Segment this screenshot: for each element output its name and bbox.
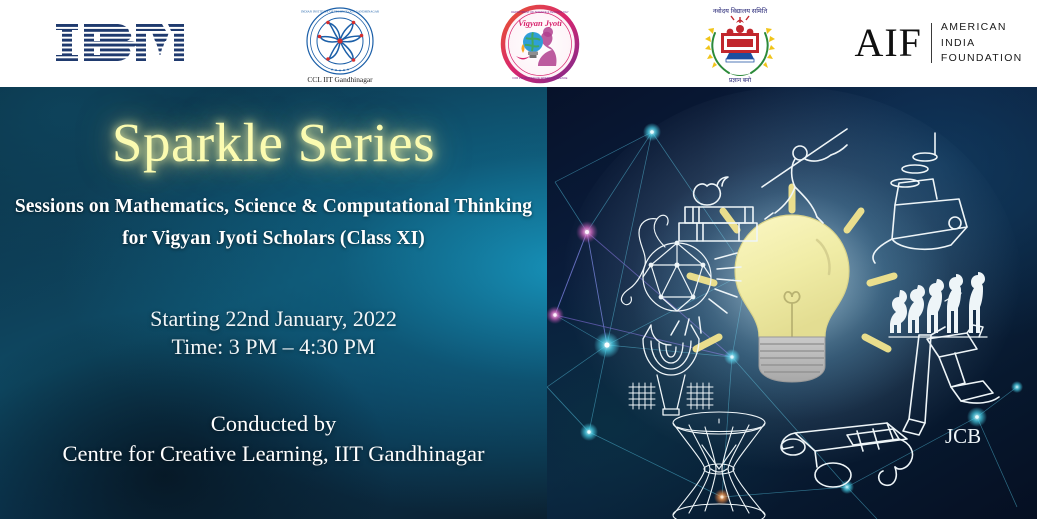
aif-wordmark: AIF bbox=[854, 23, 931, 63]
ccl-seal-icon: INDIAN INSTITUTE OF TECHNOLOGY GANDHINAG… bbox=[301, 5, 379, 83]
aif-logo: AIF AMERICAN INDIA FOUNDATION bbox=[840, 0, 1037, 87]
poster-illustration-panel: JCB bbox=[547, 87, 1037, 519]
cart-rover-icon bbox=[781, 423, 913, 487]
time-text: Time: 3 PM – 4:30 PM bbox=[0, 333, 547, 361]
ibm-wordmark-icon bbox=[56, 22, 184, 66]
organizer-block: Conducted by Centre for Creative Learnin… bbox=[0, 409, 547, 469]
poster-text-panel: Sparkle Series Sessions on Mathematics, … bbox=[0, 87, 547, 519]
human-evolution-icon bbox=[890, 272, 985, 333]
svg-text:Vigyan Jyoti: Vigyan Jyoti bbox=[518, 18, 562, 28]
ship-icon bbox=[873, 133, 967, 263]
svg-text:FOR PROMOTION OF WOMEN IN SCIE: FOR PROMOTION OF WOMEN IN SCIENCE bbox=[513, 76, 568, 80]
poster-body: Sparkle Series Sessions on Mathematics, … bbox=[0, 87, 1037, 519]
vigyan-jyoti-seal-icon: Vigyan Jyoti DEPARTMENT OF SCIENCE & TEC… bbox=[500, 4, 580, 84]
subtitle-line-2: for Vigyan Jyoti Scholars (Class XI) bbox=[0, 223, 547, 255]
sponsor-logo-bar: INDIAN INSTITUTE OF TECHNOLOGY GANDHINAG… bbox=[0, 0, 1037, 87]
hourglass-structure-icon bbox=[673, 412, 765, 519]
svg-text:नवोदय विद्यालय समिति: नवोदय विद्यालय समिति bbox=[713, 7, 768, 15]
jcb-excavator-icon: JCB bbox=[903, 325, 999, 448]
start-date-text: Starting 22nd January, 2022 bbox=[0, 305, 547, 333]
jcb-text-label: JCB bbox=[945, 424, 981, 448]
satellite-dish-icon bbox=[629, 325, 713, 415]
aif-line-foundation: FOUNDATION bbox=[941, 51, 1023, 67]
vigyan-jyoti-logo: Vigyan Jyoti DEPARTMENT OF SCIENCE & TEC… bbox=[440, 0, 640, 87]
poster-root: INDIAN INSTITUTE OF TECHNOLOGY GANDHINAG… bbox=[0, 0, 1037, 519]
navodaya-vidyalaya-samiti-logo: नवोदय विद्यालय समिति प्रज्ञान बनो bbox=[640, 0, 840, 87]
ccl-iitgn-logo: INDIAN INSTITUTE OF TECHNOLOGY GANDHINAG… bbox=[240, 0, 440, 87]
conducted-by-label: Conducted by bbox=[0, 409, 547, 439]
molecule-sphere-icon bbox=[621, 215, 741, 335]
navodaya-emblem-icon: नवोदय विद्यालय समिति प्रज्ञान बनो bbox=[699, 3, 781, 85]
poster-subtitle: Sessions on Mathematics, Science & Compu… bbox=[0, 191, 547, 254]
svg-text:प्रज्ञान बनो: प्रज्ञान बनो bbox=[729, 76, 752, 84]
books-with-apple-icon bbox=[679, 177, 757, 241]
aif-line-american: AMERICAN bbox=[941, 20, 1023, 36]
illustration-icon-group: JCB bbox=[547, 87, 1037, 519]
ccl-seal-caption: CCL IIT Gandhinagar bbox=[307, 75, 372, 84]
svg-text:INDIAN INSTITUTE OF TECHNOLOGY: INDIAN INSTITUTE OF TECHNOLOGY GANDHINAG… bbox=[301, 9, 379, 13]
subtitle-line-1: Sessions on Mathematics, Science & Compu… bbox=[15, 196, 532, 217]
aif-line-india: INDIA bbox=[941, 36, 1023, 52]
javelin-thrower-icon bbox=[762, 129, 847, 223]
schedule-block: Starting 22nd January, 2022 Time: 3 PM –… bbox=[0, 305, 547, 361]
page-title: Sparkle Series bbox=[0, 111, 547, 174]
ibm-logo bbox=[0, 0, 240, 87]
svg-text:DEPARTMENT OF SCIENCE & TECHNO: DEPARTMENT OF SCIENCE & TECHNOLOGY bbox=[511, 10, 569, 14]
organizer-name: Centre for Creative Learning, IIT Gandhi… bbox=[0, 439, 547, 469]
